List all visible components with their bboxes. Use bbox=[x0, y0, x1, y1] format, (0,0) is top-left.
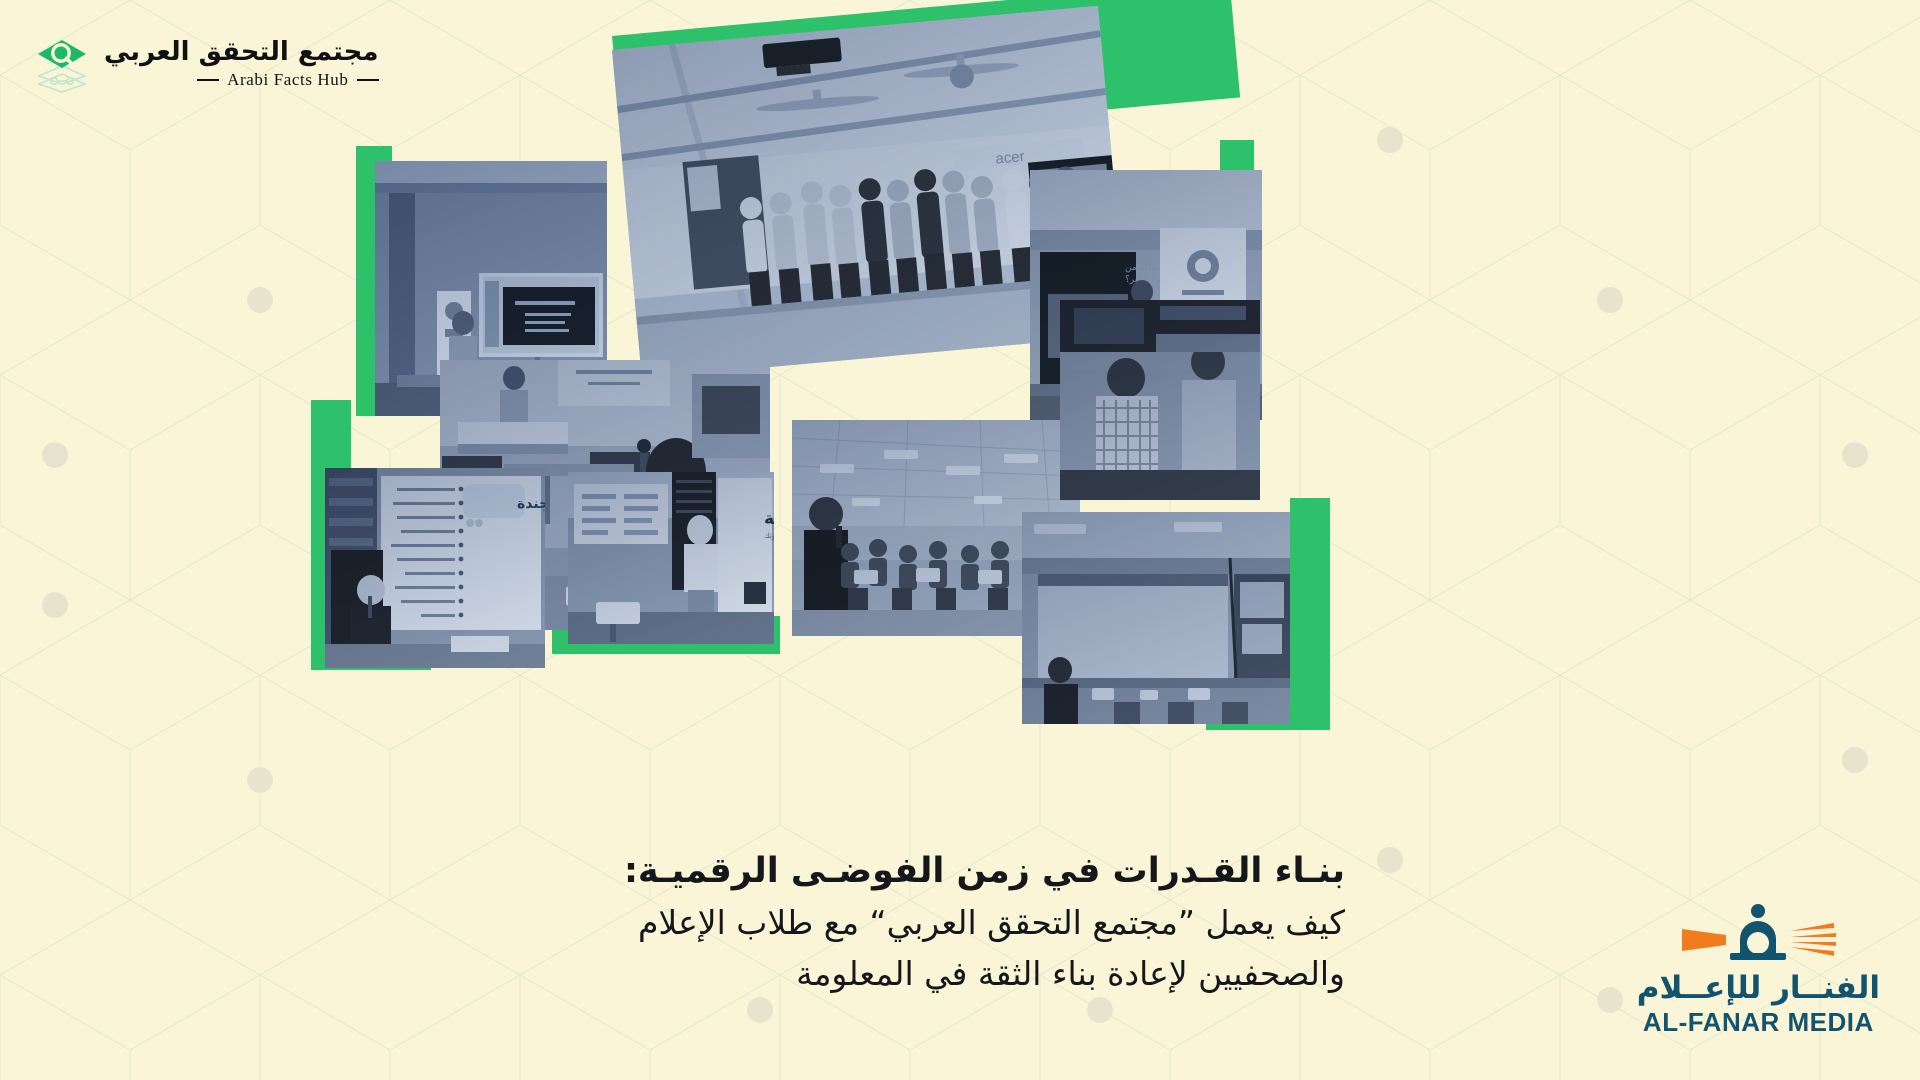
headline-line-1: بنـاء القـدرات في زمن الفوضـى الرقميـة: bbox=[525, 846, 1345, 897]
svg-text:acer: acer bbox=[995, 148, 1026, 168]
brand-arabic-name: مجتمع التحقق العربي bbox=[104, 38, 379, 67]
headline-line-2: كيف يعمل ”مجتمع التحقق العربي“ مع طلاب ا… bbox=[525, 897, 1345, 948]
arabi-facts-hub-logo[interactable]: مجتمع التحقق العربي Arabi Facts Hub bbox=[34, 34, 379, 94]
headline-line-3: والصحفيين لإعادة بناء الثقة في المعلومة bbox=[525, 948, 1345, 999]
brand-rule-left bbox=[197, 79, 219, 81]
photo-projection-room[interactable] bbox=[1022, 512, 1290, 724]
photo-seated-attendees[interactable] bbox=[1060, 300, 1260, 500]
photo-agenda-slide[interactable]: الأجندة bbox=[325, 468, 545, 668]
al-fanar-media-logo[interactable]: الفنــار للإعــلام AL-FANAR MEDIA bbox=[1637, 901, 1880, 1038]
stacked-magnifier-logo-icon bbox=[34, 34, 90, 94]
svg-text:وكيـلة: وكيـلة bbox=[764, 509, 774, 529]
svg-text:لكل صوتك: لكل صوتك bbox=[764, 532, 774, 540]
brand-rule-right bbox=[357, 79, 379, 81]
fanar-arabic-name: الفنــار للإعــلام bbox=[1637, 971, 1880, 1005]
fanar-lighthouse-icon bbox=[1668, 901, 1848, 971]
brand-english-name: Arabi Facts Hub bbox=[227, 70, 348, 90]
photo-wakeela-speaker[interactable]: وكيـلة لكل صوتك bbox=[568, 472, 774, 644]
fanar-english-name: AL-FANAR MEDIA bbox=[1643, 1007, 1874, 1038]
svg-text:الأجندة: الأجندة bbox=[517, 495, 545, 512]
headline-block: بنـاء القـدرات في زمن الفوضـى الرقميـة: … bbox=[525, 846, 1345, 999]
